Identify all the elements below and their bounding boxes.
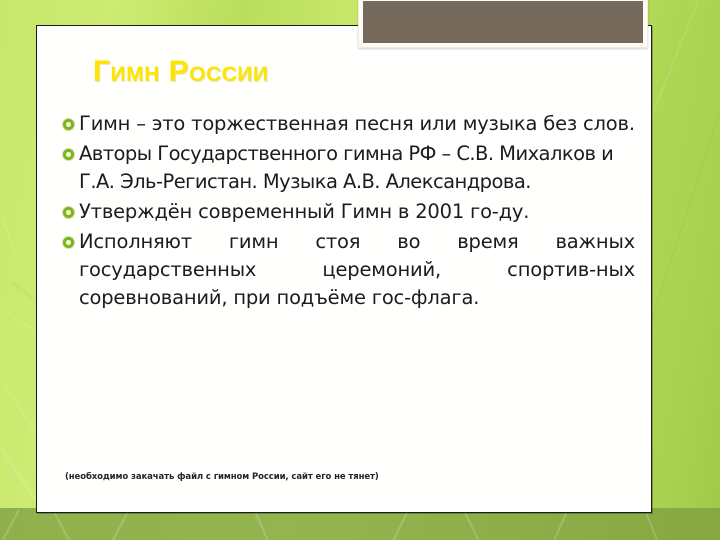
list-item-text: Гимн – это торжественная песня или музык… xyxy=(79,110,635,138)
list-item: Исполняют гимн стоя во время важных госу… xyxy=(61,228,635,312)
ring-bullet-icon xyxy=(61,205,77,221)
page-title: Гимн России xyxy=(93,55,268,89)
list-item-text: Исполняют гимн стоя во время важных госу… xyxy=(79,228,635,312)
media-placeholder-fill xyxy=(363,1,643,43)
list-item: Авторы Государственного гимна РФ – С.В. … xyxy=(61,140,635,196)
content-panel: Гимн России Гимн – это торжественная пес… xyxy=(36,25,652,513)
list-item: Гимн – это торжественная песня или музык… xyxy=(61,110,635,138)
ring-bullet-icon xyxy=(61,235,77,251)
list-item: Утверждён современный Гимн в 2001 го-ду. xyxy=(61,198,635,226)
content-panel-inner: Гимн России Гимн – это торжественная пес… xyxy=(39,28,649,510)
media-placeholder[interactable] xyxy=(358,0,648,48)
footnote-text: (необходимо закачать файл с гимном Росси… xyxy=(65,471,635,483)
list-item-text: Авторы Государственного гимна РФ – С.В. … xyxy=(79,140,635,196)
ring-bullet-icon xyxy=(61,117,77,133)
ring-bullet-icon xyxy=(61,147,77,163)
presentation-slide: Гимн России Гимн – это торжественная пес… xyxy=(0,0,720,540)
list-item-text: Утверждён современный Гимн в 2001 го-ду. xyxy=(79,198,635,226)
bullet-list: Гимн – это торжественная песня или музык… xyxy=(61,110,635,314)
